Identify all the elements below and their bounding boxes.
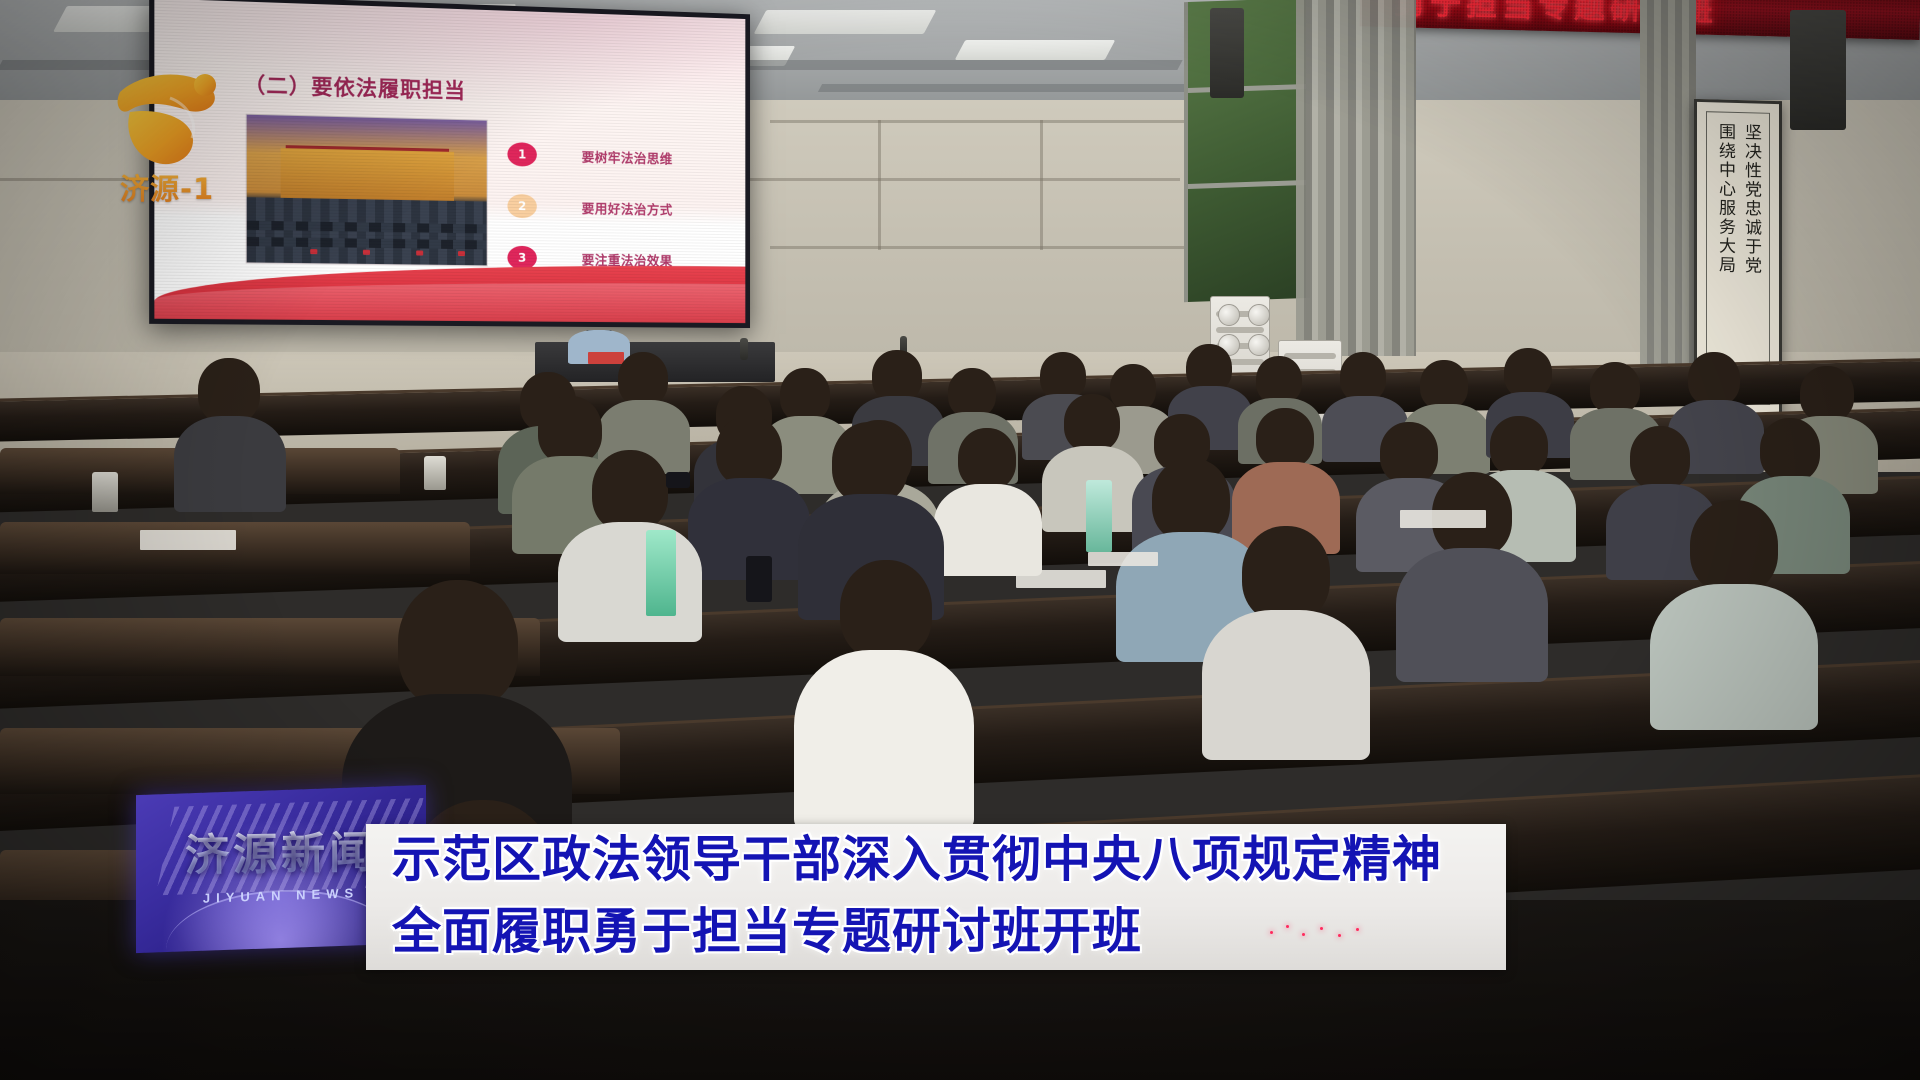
water-bottle <box>646 530 676 616</box>
desk-folder <box>588 352 624 364</box>
tea-cup <box>92 472 118 512</box>
slide-bullet-text: 要用好法治方式 <box>582 198 673 218</box>
notebook <box>1400 510 1486 528</box>
slide-bullet-number: 2 <box>507 194 536 218</box>
smartphone <box>746 556 772 602</box>
curtain-left <box>1296 0 1416 356</box>
slide-bullet-2: 2 要用好法治方式 <box>507 194 672 221</box>
slide-photo <box>246 114 488 267</box>
wall-seam <box>770 120 1190 123</box>
presider-person <box>562 330 636 354</box>
water-bottle <box>1086 480 1112 552</box>
slide-bullet-number: 1 <box>507 142 536 167</box>
wall-seam <box>878 120 881 250</box>
notebook <box>140 530 236 550</box>
smartphone <box>666 472 690 488</box>
headline-line-1: 示范区政法领导干部深入贯彻中央八项规定精神 <box>392 824 1592 896</box>
ac-dial-icon <box>1248 304 1270 326</box>
wall-speaker <box>1210 8 1244 98</box>
news-logo-title: 济源新闻 <box>185 816 377 883</box>
slide-bullet-1: 1 要树牢法治思维 <box>507 142 672 169</box>
ceiling-rail <box>818 84 1242 92</box>
slide-bullet-text: 要树牢法治思维 <box>582 146 673 167</box>
projection-screen: （二）要依法履职担当 1 要树牢法治思维 2 <box>149 0 750 328</box>
tea-cup <box>424 456 446 490</box>
ceiling-light-panel <box>955 40 1116 60</box>
wall-seam <box>770 246 1190 249</box>
broadcast-frame: 勇于担当专题研讨班 坚决性党忠诚于党 围绕中心服务大局 <box>0 0 1920 1080</box>
ceiling-light-panel <box>754 10 937 34</box>
ac-dial-icon <box>1218 304 1240 326</box>
wall-speaker <box>1790 10 1846 130</box>
notebook <box>1016 570 1106 588</box>
document-sheet <box>1088 552 1158 566</box>
slide-title: （二）要依法履职担当 <box>244 69 466 105</box>
microphone <box>740 338 748 360</box>
lower-third: 济源新闻 JIYUAN NEWS 示范区政法领导干部深入贯彻中央八项规定精神 全… <box>0 848 1920 1080</box>
headline: 示范区政法领导干部深入贯彻中央八项规定精神 全面履职勇于担当专题研讨班开班 <box>392 824 1592 968</box>
wall-seam <box>1040 120 1043 250</box>
headline-line-2: 全面履职勇于担当专题研讨班开班 <box>392 896 1592 968</box>
window <box>1184 0 1310 302</box>
